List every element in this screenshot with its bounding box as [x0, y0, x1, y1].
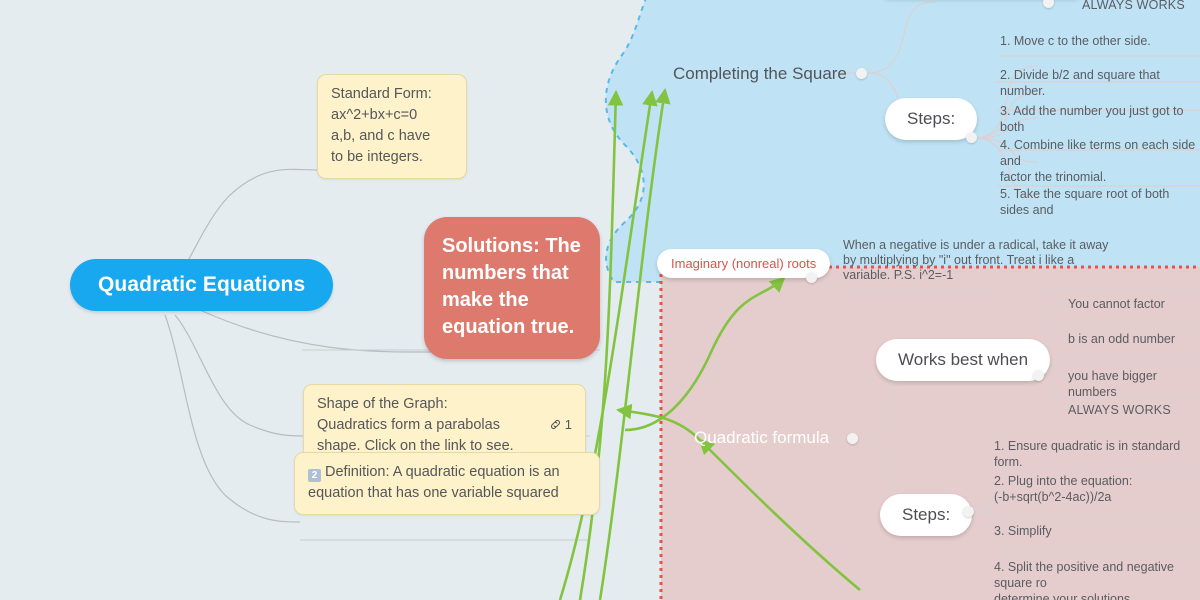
solutions-node[interactable]: Solutions: The numbers that make the equ…	[424, 217, 600, 359]
completing-step-1[interactable]: 1. Move c to the other side.	[1000, 33, 1151, 49]
formula-step-1[interactable]: 1. Ensure quadratic is in standard form.	[994, 438, 1200, 470]
definition-note-badge: 2	[308, 469, 321, 482]
imaginary-roots-label-text: Imaginary (nonreal) roots	[671, 256, 816, 271]
shape-of-graph-note-text: Shape of the Graph: Quadratics form a pa…	[317, 394, 514, 457]
branch-dot-quadratic-formula-steps[interactable]	[963, 506, 974, 517]
branch-dot-quadratic-formula[interactable]	[847, 433, 858, 444]
completing-step-3[interactable]: 3. Add the number you just got to both	[1000, 103, 1200, 135]
works-best-when-label: Works best when	[898, 350, 1028, 369]
completing-steps-label: Steps:	[907, 109, 955, 128]
root-node-label: Quadratic Equations	[98, 273, 305, 296]
condition-2[interactable]: b is an odd number	[1068, 331, 1175, 347]
condition-3[interactable]: you have bigger numbers	[1068, 368, 1200, 400]
imaginary-roots-description[interactable]: When a negative is under a radical, take…	[843, 238, 1108, 283]
standard-form-note-text: Standard Form: ax^2+bx+c=0 a,b, and c ha…	[331, 84, 453, 168]
completing-step-4[interactable]: 4. Combine like terms on each side and f…	[1000, 137, 1200, 185]
note-link-chip[interactable]: 1	[549, 394, 572, 435]
nodes-layer: Quadratic Equations Solutions: The numbe…	[0, 0, 1200, 600]
works-best-when-node[interactable]: Works best when	[876, 339, 1050, 381]
quadratic-formula-steps-node[interactable]: Steps:	[880, 494, 972, 536]
definition-note[interactable]: 2Definition: A quadratic equation is an …	[294, 452, 600, 515]
imaginary-roots-label[interactable]: Imaginary (nonreal) roots	[657, 249, 830, 278]
condition-4-always-works[interactable]: ALWAYS WORKS	[1068, 402, 1171, 418]
branch-dot-top-clipped[interactable]	[1043, 0, 1054, 8]
condition-1[interactable]: You cannot factor	[1068, 296, 1165, 312]
leaf-always-works-top[interactable]: ALWAYS WORKS	[1082, 0, 1185, 13]
mindmap-canvas: Quadratic Equations Solutions: The numbe…	[0, 0, 1200, 600]
completing-step-5[interactable]: 5. Take the square root of both sides an…	[1000, 186, 1200, 218]
quadratic-formula-title[interactable]: Quadratic formula	[694, 428, 829, 448]
note-link-count: 1	[565, 414, 572, 435]
branch-dot-completing-the-square[interactable]	[856, 68, 867, 79]
formula-step-3[interactable]: 3. Simplify	[994, 523, 1052, 539]
formula-step-4[interactable]: 4. Split the positive and negative squar…	[994, 559, 1200, 600]
completing-the-square-title-label: Completing the Square	[673, 64, 847, 83]
formula-step-2[interactable]: 2. Plug into the equation: (-b+sqrt(b^2-…	[994, 473, 1132, 505]
root-node-quadratic-equations[interactable]: Quadratic Equations	[70, 259, 333, 311]
completing-the-square-title[interactable]: Completing the Square	[673, 64, 847, 84]
completing-step-2[interactable]: 2. Divide b/2 and square that number.	[1000, 67, 1200, 99]
quadratic-formula-steps-label: Steps:	[902, 505, 950, 524]
standard-form-note[interactable]: Standard Form: ax^2+bx+c=0 a,b, and c ha…	[317, 74, 467, 179]
solutions-node-label: Solutions: The numbers that make the equ…	[442, 235, 581, 338]
branch-dot-imaginary-roots[interactable]	[806, 272, 817, 283]
completing-steps-node[interactable]: Steps:	[885, 98, 977, 140]
branch-dot-works-best-when[interactable]	[1033, 370, 1044, 381]
quadratic-formula-title-label: Quadratic formula	[694, 428, 829, 447]
definition-note-text: Definition: A quadratic equation is an e…	[308, 464, 560, 501]
branch-dot-completing-steps[interactable]	[966, 132, 977, 143]
link-icon	[549, 418, 562, 431]
